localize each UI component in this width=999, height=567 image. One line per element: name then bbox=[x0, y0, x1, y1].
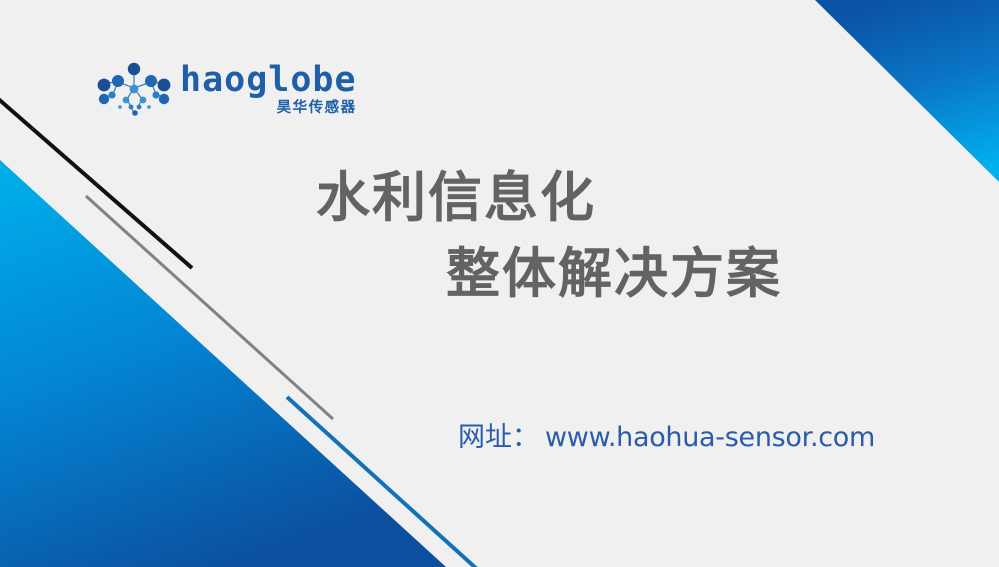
slide-title-line-2: 整体解决方案 bbox=[316, 242, 916, 306]
logo-wordmark: haoglobe bbox=[180, 63, 357, 98]
slide-title-line-1: 水利信息化 bbox=[316, 166, 916, 230]
logo-text: haoglobe 昊华传感器 bbox=[180, 63, 357, 116]
title-slide: haoglobe 昊华传感器 水利信息化 整体解决方案 网址： www.haoh… bbox=[0, 0, 999, 567]
slide-title: 水利信息化 整体解决方案 bbox=[316, 166, 916, 305]
logo-subtext: 昊华传感器 bbox=[277, 101, 357, 116]
website-url-value[interactable]: www.haohua-sensor.com bbox=[545, 422, 875, 454]
network-dots-icon bbox=[96, 61, 172, 117]
website-url-line: 网址： www.haohua-sensor.com bbox=[458, 422, 875, 454]
website-url-label: 网址： bbox=[458, 422, 539, 454]
company-logo: haoglobe 昊华传感器 bbox=[96, 58, 326, 120]
